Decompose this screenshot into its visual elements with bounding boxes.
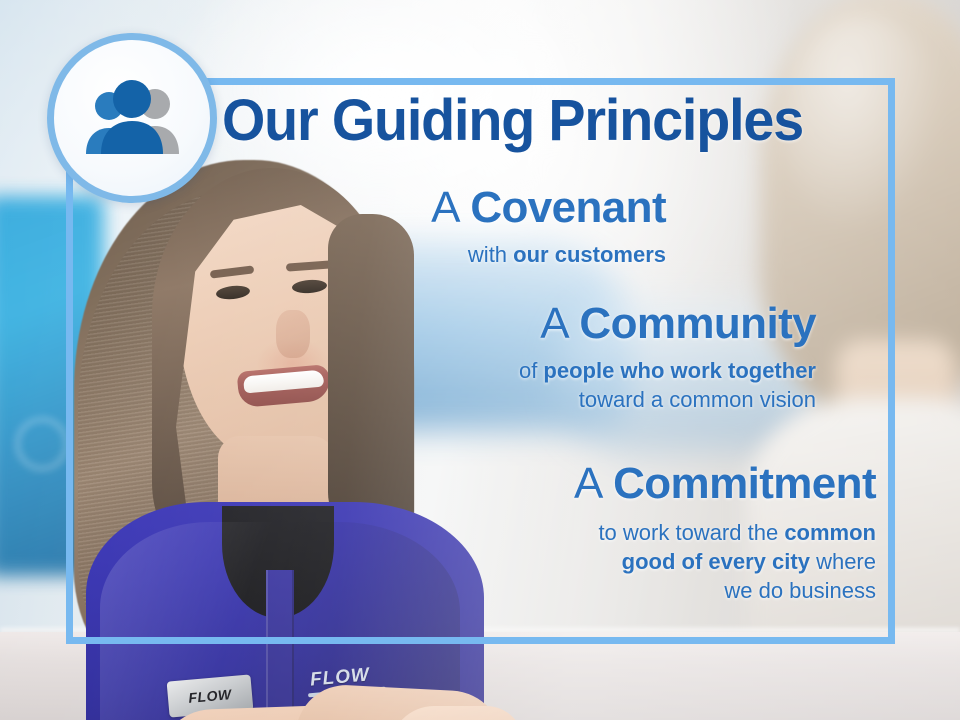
principle-community-keyword: Community (579, 299, 816, 348)
principle-commitment-sub-line-2: good of every city where (330, 547, 876, 576)
principle-commitment-bold-tail: good of every city (622, 549, 810, 574)
principle-commitment-keyword: Commitment (613, 459, 876, 508)
principle-community-subtitle: of people who work together toward a com… (300, 356, 816, 414)
principle-commitment-subtitle: to work toward the common good of every … (330, 518, 876, 605)
principle-commitment-heading: A Commitment (330, 462, 876, 507)
principle-commitment-sub-line-3: we do business (330, 576, 876, 605)
principle-covenant-sub-line-1: with our customers (468, 242, 666, 267)
principle-community-article: A (540, 299, 579, 348)
principle-covenant-heading: A Covenant (250, 186, 666, 231)
principle-community-sub-line-2: toward a common vision (300, 385, 816, 414)
principle-covenant: A Covenant with our customers (250, 186, 666, 269)
principle-community-sub-line-1: of people who work together (300, 356, 816, 385)
principle-covenant-keyword: Covenant (470, 183, 666, 232)
principle-commitment-article: A (574, 459, 613, 508)
guiding-principles-graphic: FLOW FLOW (0, 0, 960, 720)
people-group-badge (47, 33, 217, 203)
page-title: Our Guiding Principles (222, 92, 803, 150)
principle-covenant-subtitle: with our customers (250, 240, 666, 269)
principle-commitment: A Commitment to work toward the common g… (330, 462, 876, 605)
principle-community: A Community of people who work together … (300, 302, 816, 414)
principle-covenant-article: A (431, 183, 470, 232)
people-group-icon (79, 80, 185, 156)
principle-community-heading: A Community (300, 302, 816, 347)
principle-commitment-sub-line-1: to work toward the common (330, 518, 876, 547)
